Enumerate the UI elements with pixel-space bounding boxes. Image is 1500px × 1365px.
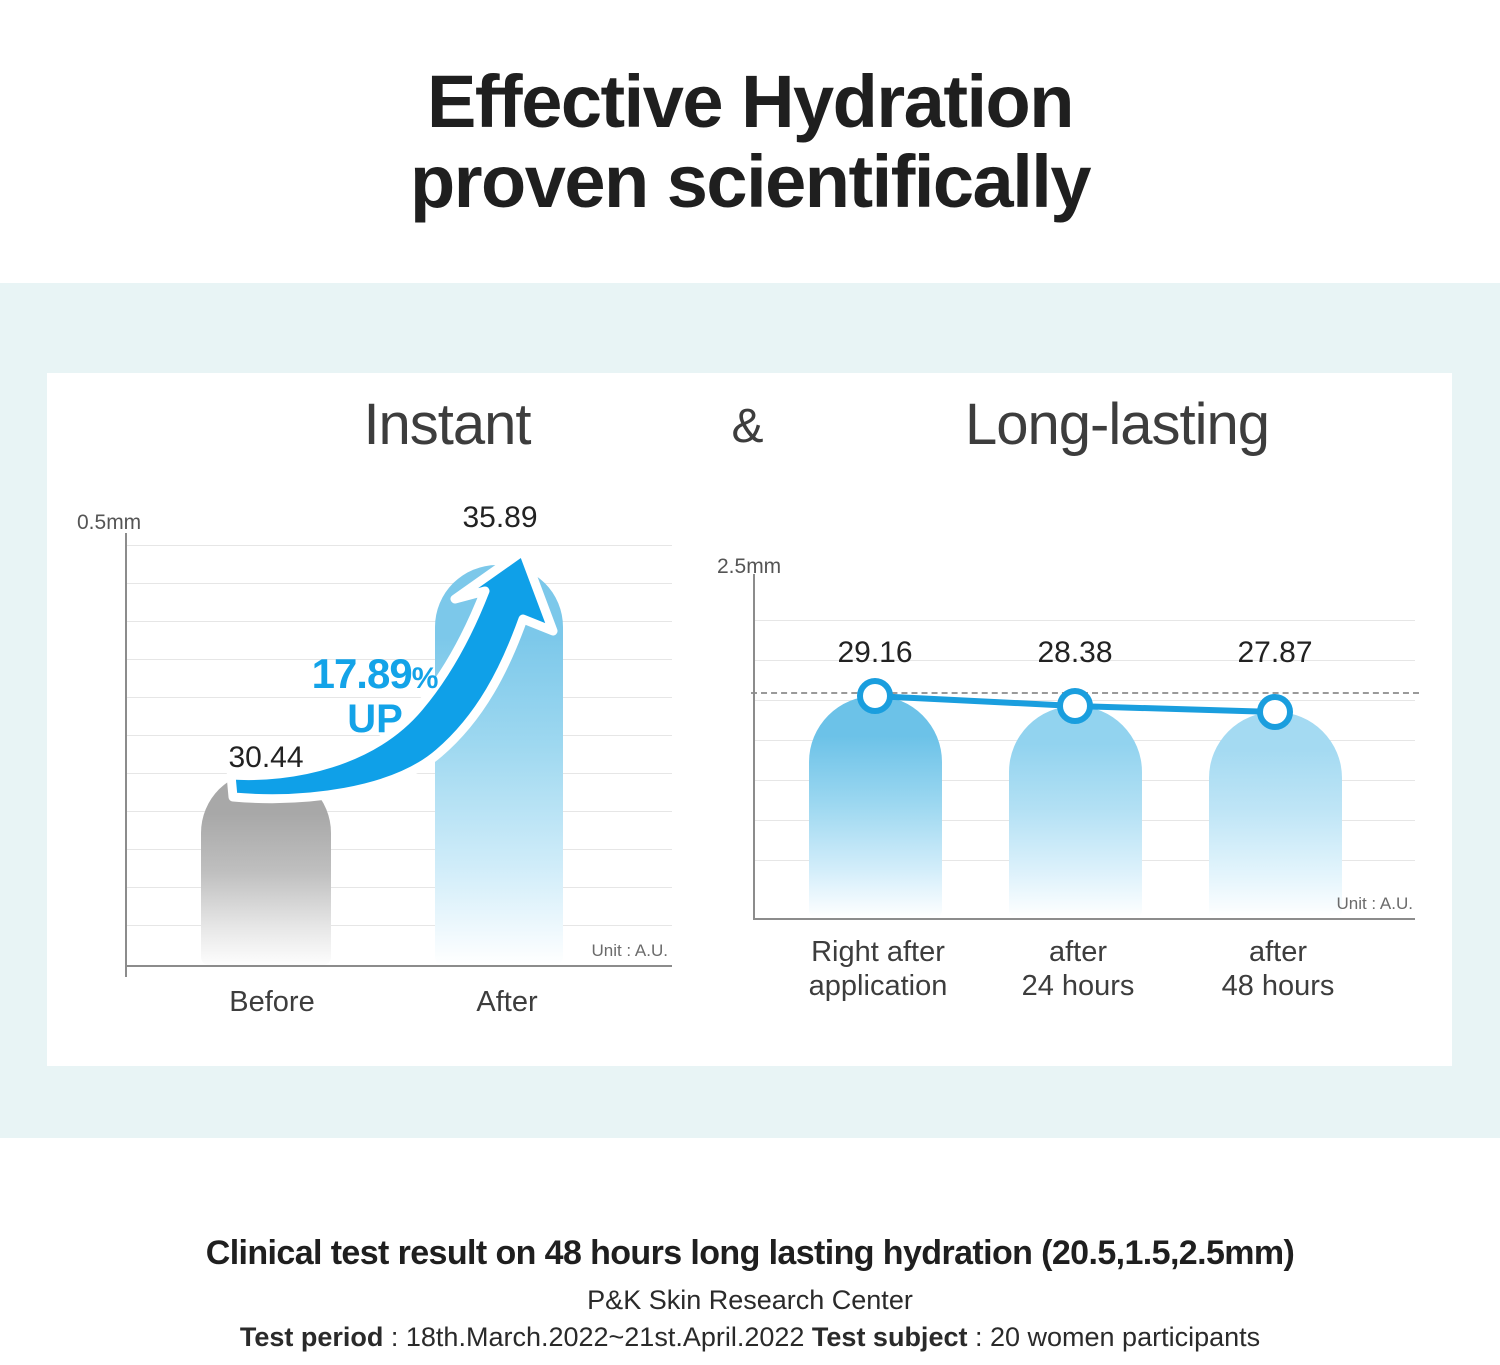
- right-chart-y-axis: [753, 574, 755, 920]
- right-chart-y-axis-label: 2.5mm: [717, 555, 781, 579]
- data-point-marker: [1260, 697, 1290, 727]
- left-chart-unit-note: Unit : A.U.: [591, 941, 668, 961]
- footer-line-3: Test period : 18th.March.2022~21st.April…: [240, 1322, 1260, 1353]
- chart-title-instant: Instant: [242, 393, 652, 457]
- value-label-before: 30.44: [191, 741, 341, 775]
- right-chart-unit-note: Unit : A.U.: [1336, 894, 1413, 914]
- uplift-value: 17.89: [312, 650, 412, 697]
- category-label-after-48-hours: after 48 hours: [1145, 935, 1411, 1003]
- cat-line-2: 48 hours: [1145, 969, 1411, 1003]
- footer-test-subject-value: : 20 women participants: [967, 1322, 1260, 1352]
- footer-test-period-value: : 18th.March.2022~21st.April.2022: [383, 1322, 812, 1352]
- cat-line-1: after: [1145, 935, 1411, 969]
- chart-long-lasting: 2.5mm: [707, 543, 1427, 1043]
- chart-instant: 0.5mm: [72, 493, 692, 1033]
- footer-line-1: Clinical test result on 48 hours long la…: [206, 1234, 1295, 1273]
- chart-title-long-lasting: Long-lasting: [837, 393, 1397, 457]
- value-label-after: 35.89: [425, 501, 575, 535]
- value-label-after-48-hours: 27.87: [1200, 636, 1350, 670]
- right-chart-plot-area: 29.16 28.38 27.87 Unit : A.U.: [755, 588, 1415, 918]
- data-point-marker: [860, 681, 890, 711]
- footer-line-2: P&K Skin Research Center: [587, 1285, 913, 1316]
- value-label-after-24-hours: 28.38: [1000, 636, 1150, 670]
- footer-test-period-label: Test period: [240, 1322, 384, 1352]
- left-chart-plot-area: 30.44 35.89 17.89% UP Unit : A.U.: [127, 545, 672, 965]
- category-label-after: After: [372, 985, 642, 1019]
- uplift-word: UP: [285, 699, 465, 739]
- left-chart-y-axis: [125, 533, 127, 977]
- gridline: [127, 545, 672, 546]
- data-point-marker: [1060, 691, 1090, 721]
- footer-test-subject-label: Test subject: [812, 1322, 968, 1352]
- page-headline: Effective Hydration proven scientificall…: [0, 0, 1500, 283]
- uplift-percent-sign: %: [412, 662, 439, 695]
- footer-notes: Clinical test result on 48 hours long la…: [0, 1138, 1500, 1365]
- uplift-annotation: 17.89% UP: [285, 653, 465, 739]
- headline-line-1: Effective Hydration: [427, 62, 1073, 142]
- chart-title-separator: &: [667, 401, 827, 454]
- tinted-panel: Instant & Long-lasting 0.5mm: [0, 283, 1500, 1138]
- left-chart-x-axis: [127, 965, 672, 967]
- headline-line-2: proven scientifically: [410, 142, 1090, 222]
- right-chart-x-axis: [755, 918, 1415, 920]
- category-label-before: Before: [137, 985, 407, 1019]
- chart-headers: Instant & Long-lasting: [47, 393, 1452, 473]
- left-chart-y-axis-label: 0.5mm: [77, 511, 141, 535]
- charts-card: Instant & Long-lasting 0.5mm: [47, 373, 1452, 1066]
- value-label-right-after-application: 29.16: [800, 636, 950, 670]
